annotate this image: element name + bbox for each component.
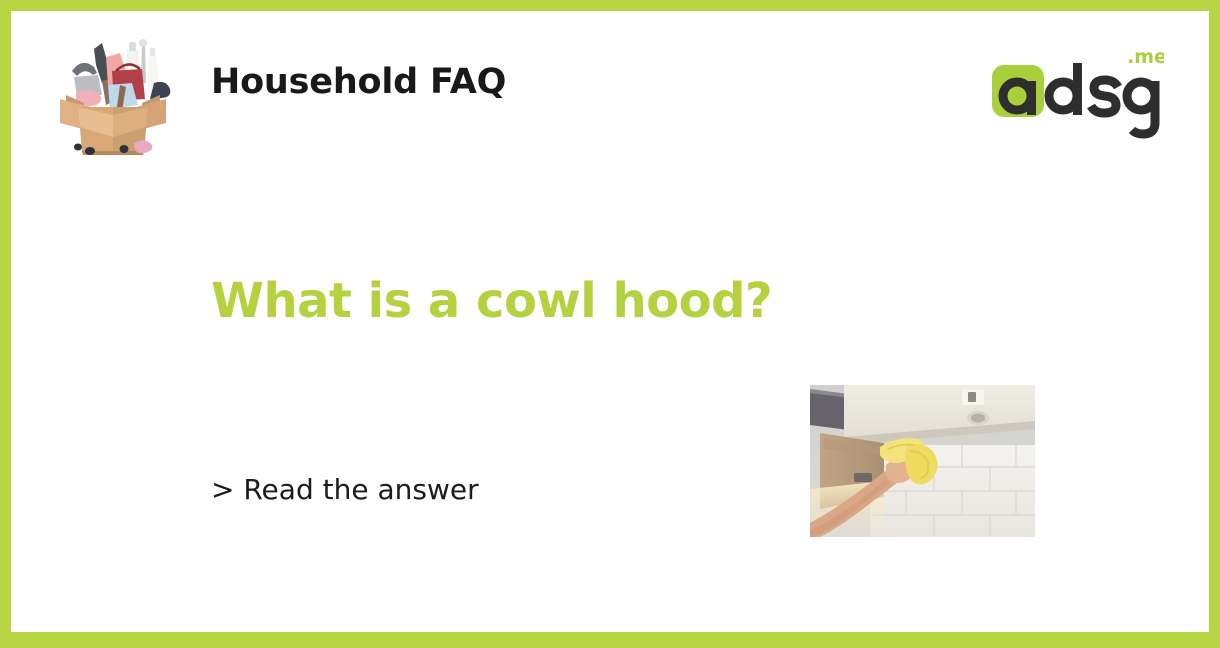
article-thumbnail[interactable] [810, 385, 1035, 537]
page-header: Household FAQ [11, 11, 1209, 171]
svg-text:.me: .me [1127, 46, 1164, 68]
question-heading: What is a cowl hood? [211, 273, 772, 329]
household-box-icon [50, 27, 176, 157]
adsy-logo[interactable]: .me [989, 41, 1164, 141]
page-title: Household FAQ [211, 62, 506, 102]
content-card: Household FAQ [11, 11, 1209, 632]
read-answer-link[interactable]: > Read the answer [211, 473, 479, 506]
